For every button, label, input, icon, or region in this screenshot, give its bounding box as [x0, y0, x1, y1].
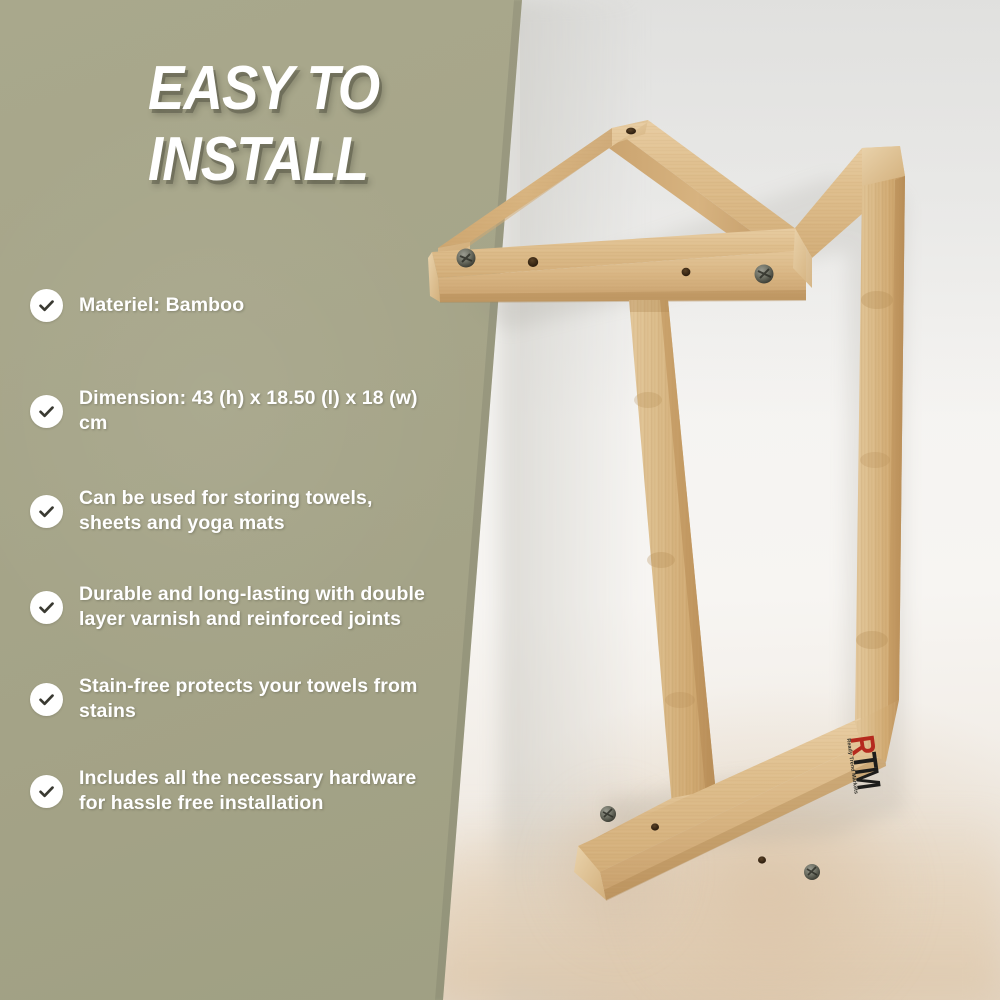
check-circle-icon: [30, 775, 63, 808]
feature-item-uses: Can be used for storing towels, sheets a…: [30, 478, 430, 544]
feature-text: Materiel: Bamboo: [79, 293, 244, 318]
screw-head: [804, 864, 820, 880]
pilot-hole: [626, 128, 636, 135]
feature-item-material: Materiel: Bamboo: [30, 272, 430, 338]
feature-item-dimension: Dimension: 43 (h) x 18.50 (l) x 18 (w) c…: [30, 378, 430, 444]
title-line-2: INSTALL: [148, 129, 438, 190]
feature-item-stain-free: Stain-free protects your towels from sta…: [30, 666, 430, 732]
feature-text: Includes all the necessary hardware for …: [79, 766, 430, 816]
shelf-rear-right-post: [855, 146, 905, 724]
pilot-hole: [528, 257, 538, 267]
feature-text: Stain-free protects your towels from sta…: [79, 674, 430, 724]
screw-head: [755, 265, 774, 284]
title-line-1: EASY TO: [148, 58, 438, 119]
screw-head: [457, 249, 476, 268]
shelf-front-left-post: [629, 300, 716, 806]
screw-head: [600, 806, 616, 822]
check-circle-icon: [30, 289, 63, 322]
check-circle-icon: [30, 683, 63, 716]
feature-list: Materiel: Bamboo Dimension: 43 (h) x 18.…: [30, 272, 430, 824]
feature-text: Can be used for storing towels, sheets a…: [79, 486, 430, 536]
feature-item-hardware: Includes all the necessary hardware for …: [30, 758, 430, 824]
feature-item-durability: Durable and long-lasting with double lay…: [30, 574, 430, 640]
feature-text: Dimension: 43 (h) x 18.50 (l) x 18 (w) c…: [79, 386, 430, 436]
page-title: EASY TO INSTALL: [148, 58, 478, 191]
check-circle-icon: [30, 395, 63, 428]
infographic-canvas: RTM Ready Trend Markets EASY TO INSTALL …: [0, 0, 1000, 1000]
feature-text: Durable and long-lasting with double lay…: [79, 582, 430, 632]
check-circle-icon: [30, 591, 63, 624]
check-circle-icon: [30, 495, 63, 528]
pilot-hole: [758, 856, 766, 863]
pilot-hole: [682, 268, 691, 276]
shelf-top-front-board: [428, 228, 806, 303]
pilot-hole: [651, 823, 659, 830]
